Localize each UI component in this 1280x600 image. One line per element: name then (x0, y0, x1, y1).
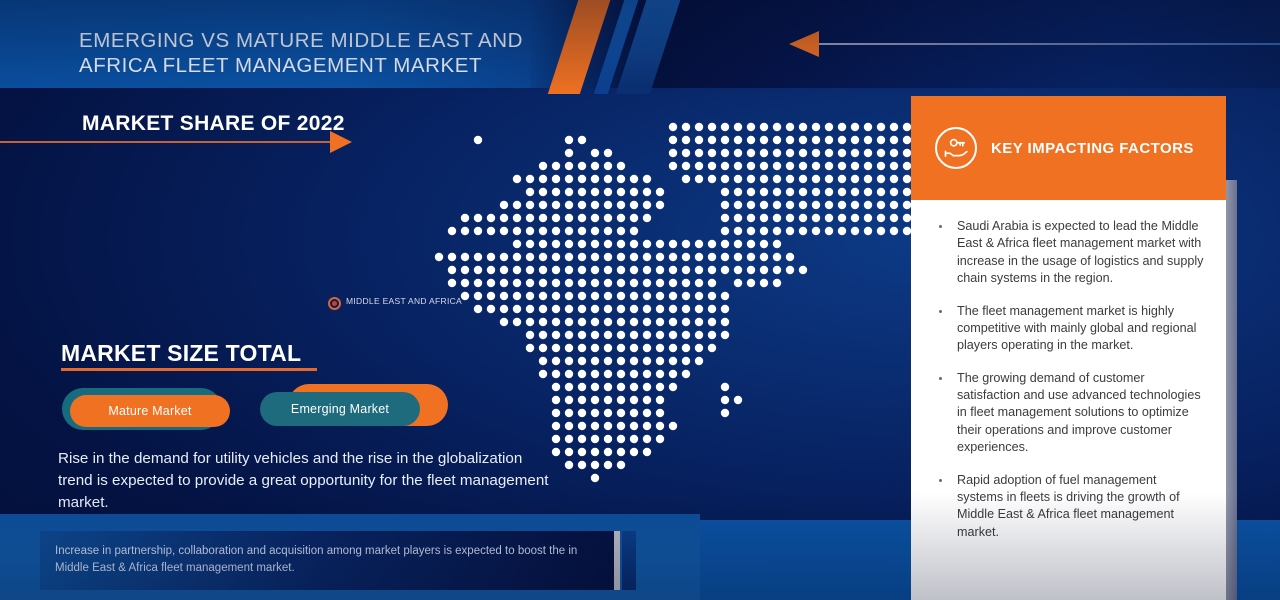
map-region-marker: MIDDLE EAST AND AFRICA (328, 296, 462, 310)
legend-emerging-label: Emerging Market (260, 392, 420, 426)
market-share-line (0, 141, 332, 143)
legend-item-mature[interactable]: Mature Market (62, 388, 252, 434)
footer-note: Increase in partnership, collaboration a… (55, 543, 600, 576)
world-map-dotted (420, 82, 920, 502)
market-size-title: MARKET SIZE TOTAL (61, 340, 301, 367)
legend-mature-label: Mature Market (70, 395, 230, 427)
key-factors-body: Saudi Arabia is expected to lead the Mid… (911, 200, 1226, 600)
page-title: EMERGING VS MATURE MIDDLE EAST AND AFRIC… (79, 28, 599, 78)
key-factors-panel-shadow (1226, 180, 1237, 600)
key-factors-title: KEY IMPACTING FACTORS (991, 140, 1194, 157)
list-item: Rapid adoption of fuel management system… (935, 472, 1204, 542)
key-factors-header: KEY IMPACTING FACTORS (911, 96, 1226, 200)
list-item: The growing demand of customer satisfact… (935, 370, 1204, 457)
market-size-underline (61, 368, 317, 371)
list-item: Saudi Arabia is expected to lead the Mid… (935, 218, 1204, 288)
header-pointer-line (818, 43, 1280, 45)
target-ring-icon (328, 297, 341, 310)
footer-panel-secondary (622, 531, 636, 590)
footer-accent-bar (614, 531, 620, 590)
infographic-canvas: EMERGING VS MATURE MIDDLE EAST AND AFRIC… (0, 0, 1280, 600)
hand-holding-key-icon (935, 127, 977, 169)
key-impacting-factors-panel: KEY IMPACTING FACTORS Saudi Arabia is ex… (911, 96, 1226, 600)
market-size-description: Rise in the demand for utility vehicles … (58, 448, 558, 514)
legend-item-emerging[interactable]: Emerging Market (258, 384, 448, 434)
arrow-left-icon (789, 31, 819, 57)
list-item: The fleet management market is highly co… (935, 303, 1204, 355)
key-factors-list: Saudi Arabia is expected to lead the Mid… (935, 218, 1204, 541)
market-share-label: MARKET SHARE OF 2022 (82, 112, 345, 136)
map-region-label: MIDDLE EAST AND AFRICA (346, 296, 462, 307)
